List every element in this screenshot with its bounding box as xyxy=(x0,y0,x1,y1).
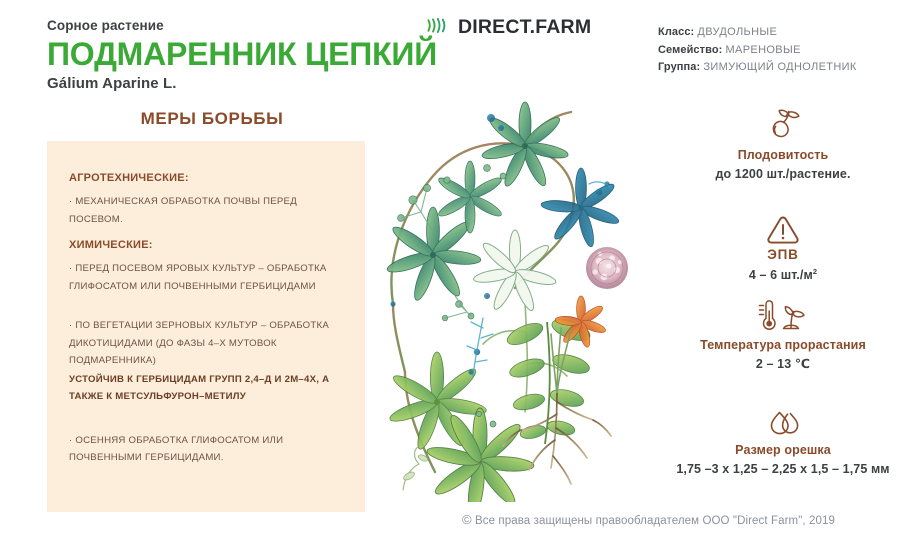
plant-illustration xyxy=(375,72,660,502)
taxonomy-value: МАРЕНОВЫЕ xyxy=(726,44,801,56)
measures-item: · МЕХАНИЧЕСКАЯ ОБРАБОТКА ПОЧВЫ ПЕРЕД ПОС… xyxy=(69,193,351,228)
fact-value: 4 – 6 шт./м2 xyxy=(658,267,908,283)
taxonomy-value: ДВУДОЛЬНЫЕ xyxy=(697,26,777,38)
fact-value-text: 4 – 6 шт./м xyxy=(749,268,813,282)
fact-value-superscript: 2 xyxy=(813,267,817,276)
taxonomy-block: Класс: ДВУДОЛЬНЫЕ Семейство: МАРЕНОВЫЕ Г… xyxy=(658,24,908,77)
taxonomy-row-family: Семейство: МАРЕНОВЫЕ xyxy=(658,42,908,60)
taxonomy-label: Группа: xyxy=(658,61,700,73)
copyright-text: Все права защищены правообладателем ООО … xyxy=(475,515,835,527)
measures-group-chemical: ХИМИЧЕСКИЕ: · ПЕРЕД ПОСЕВОМ ЯРОВЫХ КУЛЬТ… xyxy=(69,239,351,467)
fact-nutlet-size: Размер орешка 1,75 –3 х 1,25 – 2,25 х 1,… xyxy=(658,398,908,477)
wave-chevrons-icon xyxy=(427,17,449,39)
fact-title: Плодовитость xyxy=(658,148,908,163)
infographic-page: Сорное растение ПОДМАРЕННИК ЦЕПКИЙ Gáliu… xyxy=(0,0,910,545)
taxonomy-label: Семейство: xyxy=(658,44,722,56)
fact-value: до 1200 шт./растение. xyxy=(658,167,908,182)
thermometer-sprout-icon xyxy=(658,293,908,333)
taxonomy-value: ЗИМУЮЩИЙ ОДНОЛЕТНИК xyxy=(703,61,856,73)
measures-item: · ОСЕННЯЯ ОБРАБОТКА ГЛИФОСАТОМ ИЛИ ПОЧВЕ… xyxy=(69,432,351,467)
measures-group-heading: АГРОТЕХНИЧЕСКИЕ: xyxy=(69,172,351,184)
two-nutlets-icon xyxy=(658,398,908,438)
fact-title: ЭПВ xyxy=(658,247,908,263)
fact-title: Температура прорастания xyxy=(658,338,908,353)
taxonomy-label: Класс: xyxy=(658,26,694,38)
sprouting-seed-icon xyxy=(658,103,908,143)
brand-logo[interactable]: DIRECT.FARM xyxy=(427,16,591,39)
copyright-icon: © xyxy=(462,512,472,527)
page-title: ПОДМАРЕННИК ЦЕПКИЙ xyxy=(47,37,447,73)
fact-value: 2 – 13 ℃ xyxy=(658,357,908,372)
taxonomy-row-group: Группа: ЗИМУЮЩИЙ ОДНОЛЕТНИК xyxy=(658,59,908,77)
weed-kicker: Сорное растение xyxy=(47,18,447,34)
taxonomy-row-class: Класс: ДВУДОЛЬНЫЕ xyxy=(658,24,908,42)
copyright-footer: © Все права защищены правообладателем ОО… xyxy=(462,512,835,527)
fact-value: 1,75 –3 х 1,25 – 2,25 х 1,5 – 1,75 мм xyxy=(658,462,908,477)
measures-panel: АГРОТЕХНИЧЕСКИЕ: · МЕХАНИЧЕСКАЯ ОБРАБОТК… xyxy=(47,141,365,512)
logo-wordmark: DIRECT.FARM xyxy=(458,16,591,39)
measures-item: · ПЕРЕД ПОСЕВОМ ЯРОВЫХ КУЛЬТУР – ОБРАБОТ… xyxy=(69,260,351,295)
fact-economic-threshold: ЭПВ 4 – 6 шт./м2 xyxy=(658,206,908,283)
measures-group-agrotechnical: АГРОТЕХНИЧЕСКИЕ: · МЕХАНИЧЕСКАЯ ОБРАБОТК… xyxy=(69,172,351,228)
fact-fertility: Плодовитость до 1200 шт./растение. xyxy=(658,103,908,182)
fact-title: Размер орешка xyxy=(658,443,908,458)
warning-triangle-icon xyxy=(658,206,908,246)
fact-germination-temperature: Температура прорастания 2 – 13 ℃ xyxy=(658,293,908,372)
measures-item: · ПО ВЕГЕТАЦИИ ЗЕРНОВЫХ КУЛЬТУР – ОБРАБО… xyxy=(69,317,351,370)
measures-group-heading: ХИМИЧЕСКИЕ: xyxy=(69,239,351,251)
measures-item-emphasis: УСТОЙЧИВ К ГЕРБИЦИДАМ ГРУПП 2,4–Д И 2М–4… xyxy=(69,371,351,406)
measures-title: МЕРЫ БОРЬБЫ xyxy=(47,109,377,129)
